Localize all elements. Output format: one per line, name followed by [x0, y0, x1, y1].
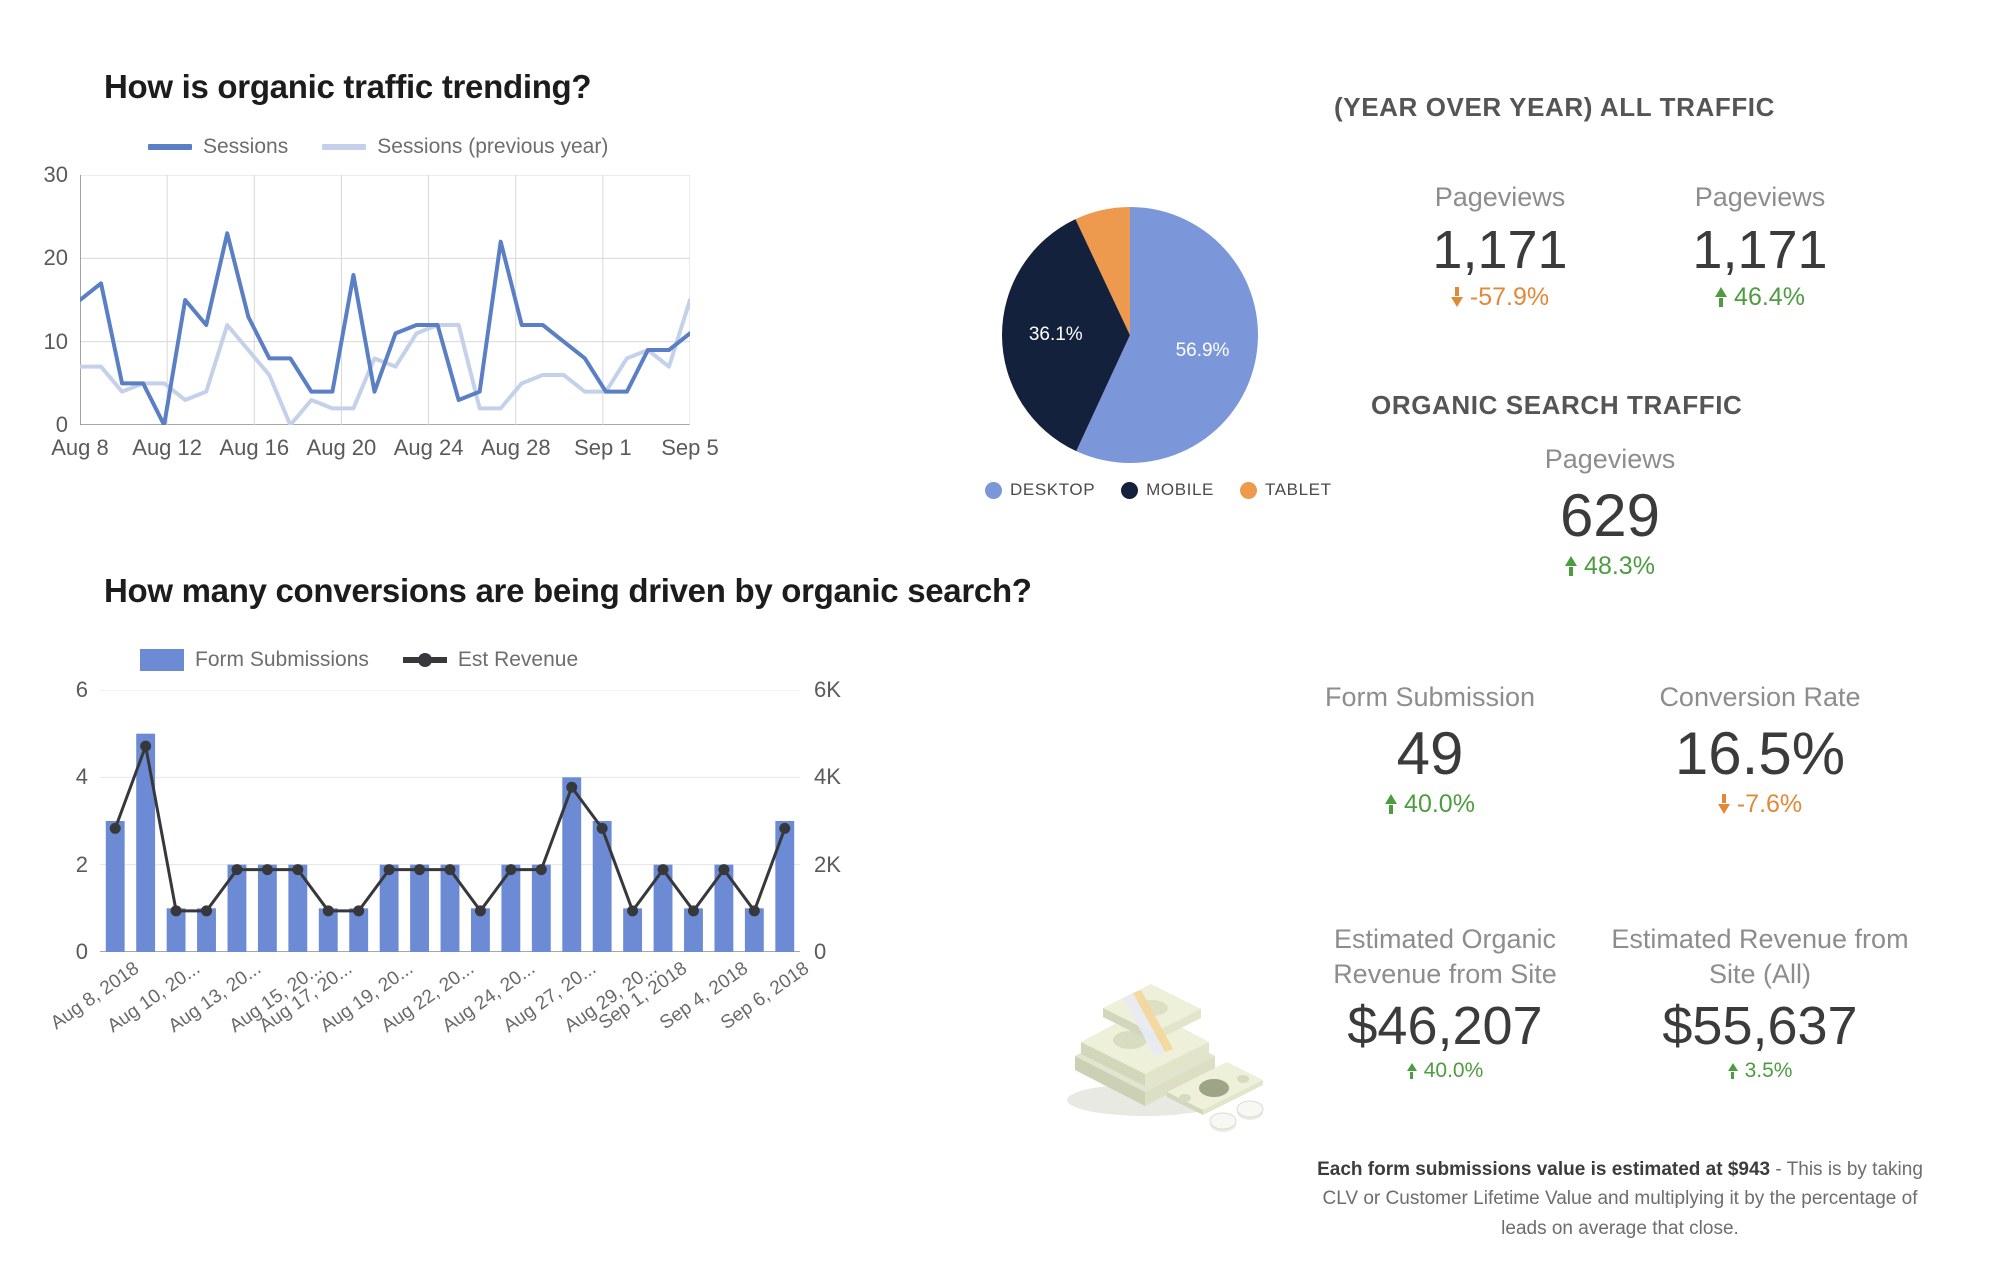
pie-legend-dot-icon: [1240, 482, 1257, 499]
conversions-bar-chart[interactable]: 0246 02K4K6K Aug 8, 2018Aug 10, 20...Aug…: [100, 690, 800, 952]
line-chart-x-tick: Sep 5: [661, 435, 719, 461]
legend-swatch-est-revenue-icon: [403, 657, 447, 663]
kpi-card-estimated-revenue-all[interactable]: Estimated Revenue from Site (All) $55,63…: [1610, 922, 1910, 1083]
kpi-delta-text: 46.4%: [1734, 283, 1805, 312]
bar-chart-y-tick-left: 2: [76, 852, 88, 878]
kpi-value: 1,171: [1400, 219, 1600, 281]
pie-legend-label: DESKTOP: [1010, 480, 1095, 500]
legend-swatch-sessions-icon: [148, 144, 192, 150]
line-chart-x-tick: Aug 16: [219, 435, 289, 461]
kpi-card-yoy-pageviews-2[interactable]: Pageviews 1,171 46.4%: [1660, 180, 1860, 312]
arrow-down-icon: [1718, 794, 1730, 814]
bar-chart-y-tick-left: 4: [76, 764, 88, 790]
kpi-card-conversion-rate[interactable]: Conversion Rate 16.5% -7.6%: [1610, 680, 1910, 819]
kpi-value: $55,637: [1610, 995, 1910, 1057]
pie-legend-label: MOBILE: [1146, 480, 1214, 500]
legend-label-sessions-previous-year: Sessions (previous year): [377, 135, 608, 159]
kpi-value: 629: [1500, 481, 1720, 550]
kpi-card-form-submission[interactable]: Form Submission 49 40.0%: [1280, 680, 1580, 819]
arrow-up-icon: [1715, 287, 1727, 307]
line-chart-x-tick: Aug 8: [51, 435, 109, 461]
kpi-label: Pageviews: [1500, 442, 1720, 477]
dashboard-page: How is organic traffic trending? How man…: [0, 0, 2000, 1280]
arrow-up-icon: [1385, 794, 1397, 814]
kpi-delta-text: 40.0%: [1404, 790, 1475, 819]
line-chart-plot: [80, 175, 690, 425]
page-title-traffic: How is organic traffic trending?: [104, 68, 591, 106]
pie-legend-item-mobile[interactable]: MOBILE: [1121, 480, 1214, 500]
line-chart-y-tick: 30: [44, 162, 68, 188]
pie-legend-dot-icon: [1121, 482, 1138, 499]
line-chart-x-tick: Aug 12: [132, 435, 202, 461]
legend-item-est-revenue[interactable]: Est Revenue: [403, 648, 578, 672]
pie-slice-label: 56.9%: [1176, 340, 1230, 362]
bar-chart-svg: [100, 690, 800, 952]
kpi-delta: 46.4%: [1660, 283, 1860, 312]
pie-legend-dot-icon: [985, 482, 1002, 499]
pie-legend-item-tablet[interactable]: TABLET: [1240, 480, 1332, 500]
organic-traffic-line-chart[interactable]: 0102030 Aug 8Aug 12Aug 16Aug 20Aug 24Aug…: [80, 175, 690, 425]
legend-label-sessions: Sessions: [203, 135, 288, 159]
kpi-card-estimated-organic-revenue[interactable]: Estimated Organic Revenue from Site $46,…: [1295, 922, 1595, 1083]
kpi-delta: 48.3%: [1500, 552, 1720, 581]
line-chart-x-tick: Aug 20: [307, 435, 377, 461]
line-chart-x-tick: Aug 24: [394, 435, 464, 461]
kpi-card-organic-pageviews[interactable]: Pageviews 629 48.3%: [1500, 442, 1720, 581]
kpi-delta: -7.6%: [1610, 790, 1910, 819]
kpi-label: Estimated Organic Revenue from Site: [1295, 922, 1595, 991]
footnote-bold: Each form submissions value is estimated…: [1317, 1159, 1770, 1180]
legend-swatch-sessions-prev-icon: [322, 144, 366, 150]
bar-chart-y-tick-right: 4K: [814, 764, 841, 790]
section-heading-yoy: (YEAR OVER YEAR) ALL TRAFFIC: [1334, 92, 1775, 123]
kpi-value: 49: [1280, 719, 1580, 788]
arrow-down-icon: [1451, 287, 1463, 307]
pie-slice-label: 36.1%: [1029, 324, 1083, 346]
bar-chart-legend: Form Submissions Est Revenue: [140, 648, 578, 672]
bar-chart-y-tick-right: 2K: [814, 852, 841, 878]
kpi-delta-text: 3.5%: [1745, 1059, 1793, 1083]
kpi-delta-text: 48.3%: [1584, 552, 1655, 581]
pie-legend-label: TABLET: [1265, 480, 1332, 500]
bar-chart-plot: [100, 690, 800, 952]
legend-item-sessions[interactable]: Sessions: [148, 135, 288, 159]
bar-chart-y-tick-right: 6K: [814, 677, 841, 703]
section-heading-organic-search: ORGANIC SEARCH TRAFFIC: [1371, 390, 1742, 421]
kpi-value: $46,207: [1295, 995, 1595, 1057]
kpi-value: 1,171: [1660, 219, 1860, 281]
device-pie-chart[interactable]: 56.9%36.1%: [1000, 205, 1260, 465]
kpi-card-yoy-pageviews-1[interactable]: Pageviews 1,171 -57.9%: [1400, 180, 1600, 312]
legend-item-sessions-previous-year[interactable]: Sessions (previous year): [322, 135, 608, 159]
line-chart-y-tick: 20: [44, 245, 68, 271]
kpi-delta: -57.9%: [1400, 283, 1600, 312]
bar-chart-y-tick-left: 0: [76, 939, 88, 965]
kpi-delta-text: -7.6%: [1737, 790, 1802, 819]
arrow-up-icon: [1728, 1063, 1738, 1079]
bar-chart-y-tick-right: 0: [814, 939, 826, 965]
kpi-delta: 40.0%: [1295, 1059, 1595, 1083]
kpi-delta: 3.5%: [1610, 1059, 1910, 1083]
legend-label-est-revenue: Est Revenue: [458, 648, 578, 672]
kpi-label: Estimated Revenue from Site (All): [1610, 922, 1910, 991]
page-title-conversions: How many conversions are being driven by…: [104, 572, 1032, 610]
kpi-label: Conversion Rate: [1610, 680, 1910, 715]
line-chart-x-tick: Aug 28: [481, 435, 551, 461]
footnote: Each form submissions value is estimated…: [1310, 1155, 1930, 1243]
line-chart-y-tick: 10: [44, 329, 68, 355]
money-stack-illustration: [1055, 960, 1295, 1140]
pie-legend-item-desktop[interactable]: DESKTOP: [985, 480, 1095, 500]
arrow-up-icon: [1565, 556, 1577, 576]
kpi-value: 16.5%: [1610, 719, 1910, 788]
kpi-label: Pageviews: [1400, 180, 1600, 215]
line-chart-svg: [80, 175, 690, 425]
legend-label-form-submissions: Form Submissions: [195, 648, 369, 672]
line-chart-x-tick: Sep 1: [574, 435, 632, 461]
arrow-up-icon: [1407, 1063, 1417, 1079]
bar-chart-y-tick-left: 6: [76, 677, 88, 703]
legend-swatch-form-submissions-icon: [140, 649, 184, 671]
kpi-delta-text: 40.0%: [1424, 1059, 1484, 1083]
kpi-delta-text: -57.9%: [1470, 283, 1549, 312]
legend-item-form-submissions[interactable]: Form Submissions: [140, 648, 369, 672]
kpi-label: Pageviews: [1660, 180, 1860, 215]
kpi-label: Form Submission: [1280, 680, 1580, 715]
line-chart-legend: Sessions Sessions (previous year): [148, 135, 608, 159]
kpi-delta: 40.0%: [1280, 790, 1580, 819]
pie-chart-legend: DESKTOPMOBILETABLET: [985, 480, 1332, 500]
